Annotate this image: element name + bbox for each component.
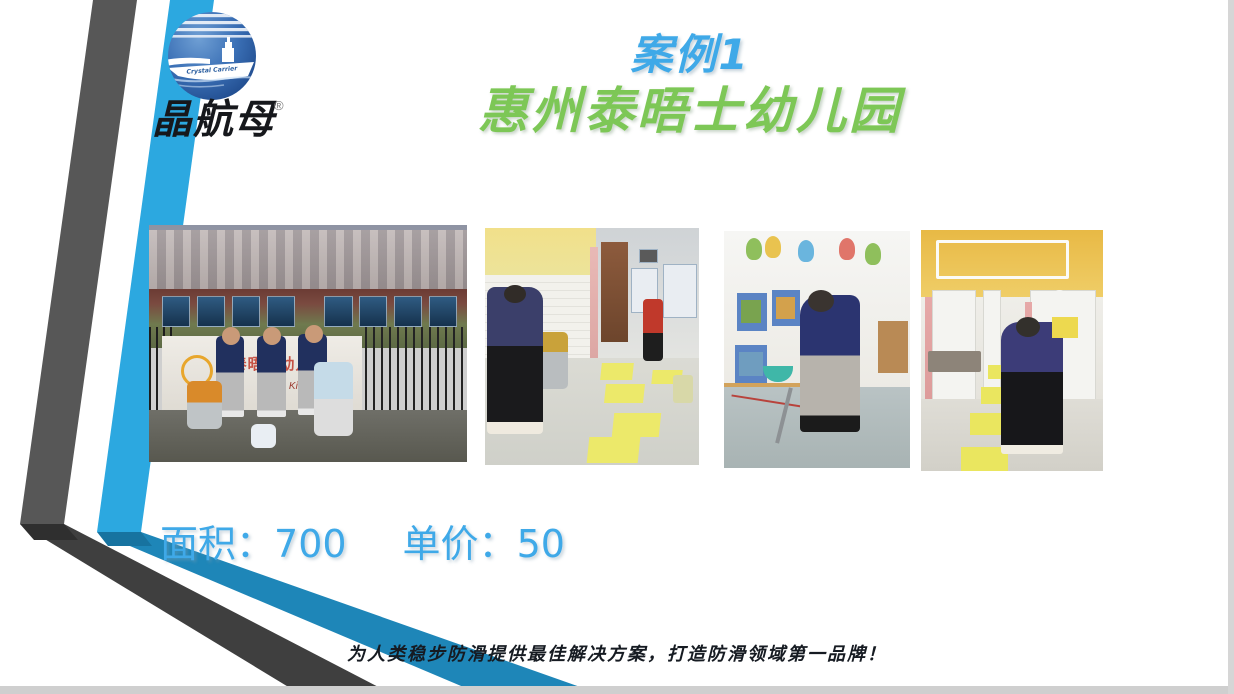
photo-kindergarten-entrance-team: 泰晤士幼儿园 Kindergarten <box>149 225 467 462</box>
slide-title: 案例1 惠州泰晤士幼儿园 <box>430 30 950 142</box>
title-case-number: 案例1 <box>430 30 950 80</box>
photo-hallway-vacuum-work <box>485 228 699 465</box>
stat-area: 面积：700 <box>160 513 347 568</box>
stat-area-value: 700 <box>274 522 347 566</box>
company-logo: Crystal Carrier 晶航母 ® <box>152 6 302 164</box>
title-project-name: 惠州泰晤士幼儿园 <box>430 80 950 143</box>
footer-tagline: 为人类稳步防滑提供最佳解决方案，打造防滑领域第一品牌！ <box>0 640 1234 666</box>
stat-unit-price-value: 50 <box>517 522 565 566</box>
blue-band-fold <box>97 532 152 546</box>
registered-mark: ® <box>274 98 284 113</box>
photo-restroom-floor-treatment <box>921 230 1103 471</box>
project-stats: 面积：700 单价：50 <box>160 513 565 568</box>
slide: Crystal Carrier 晶航母 ® 案例1 惠州泰晤士幼儿园 泰 <box>0 0 1234 694</box>
stat-unit-price-label: 单价： <box>403 522 517 566</box>
gray-band-vertical <box>20 0 137 524</box>
stat-unit-price: 单价：50 <box>403 513 565 568</box>
photo-classroom-floor-treatment <box>724 231 910 468</box>
right-edge-strip <box>1228 0 1234 694</box>
ship-circle-emblem-icon: Crystal Carrier <box>162 6 262 106</box>
gray-band-fold <box>20 524 78 540</box>
bottom-edge-strip <box>0 686 1234 694</box>
stat-area-label: 面积： <box>160 522 274 566</box>
